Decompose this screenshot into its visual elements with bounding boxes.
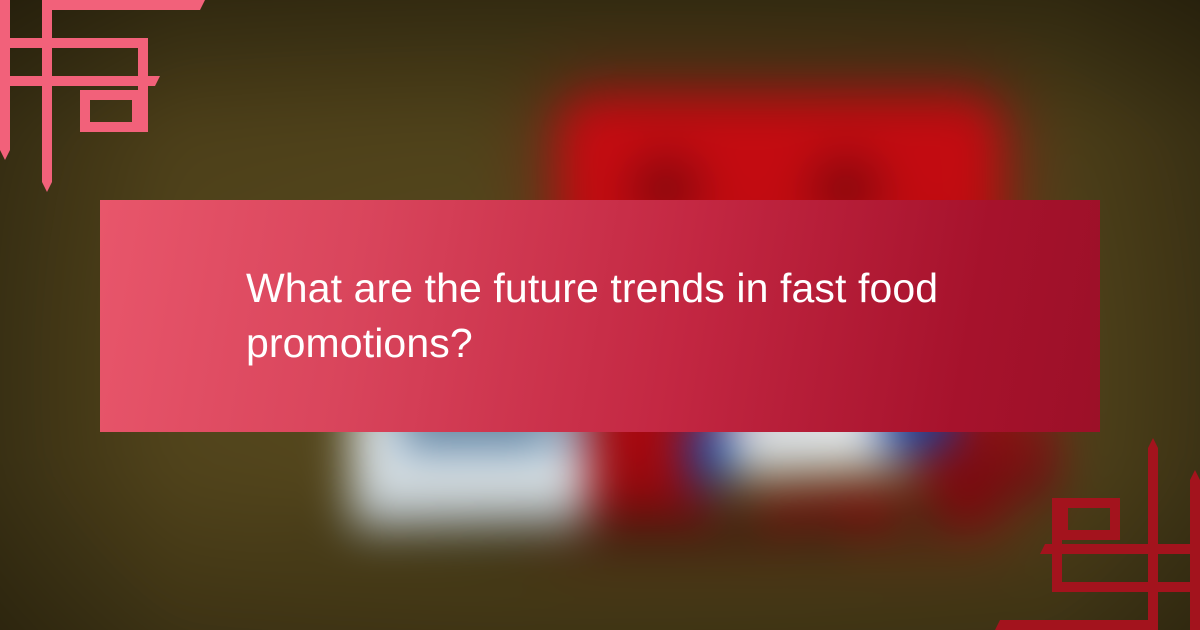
page-canvas: What are the future trends in fast food … xyxy=(0,0,1200,630)
title-banner: What are the future trends in fast food … xyxy=(100,200,1100,432)
page-title: What are the future trends in fast food … xyxy=(100,261,1100,370)
corner-ornament-top-left-icon xyxy=(0,0,230,200)
corner-ornament-bottom-right-icon xyxy=(970,430,1200,630)
